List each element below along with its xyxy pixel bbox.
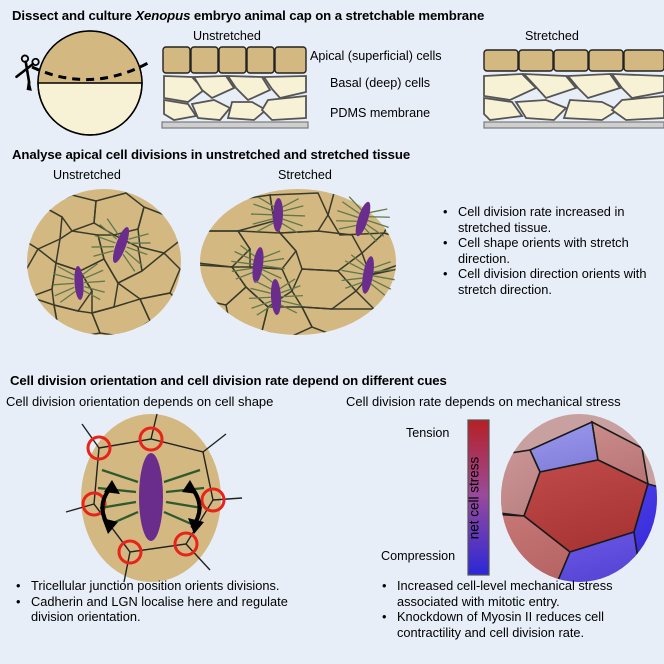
list-item: •Tricellular junction position orients d… <box>16 578 326 594</box>
panel1-heading-post: embryo animal cap on a stretchable membr… <box>190 8 484 23</box>
bullet-text: Cell division direction orients with str… <box>458 266 658 297</box>
chromosome-plate <box>139 453 163 541</box>
bullet-text: Cadherin and LGN localise here and regul… <box>31 594 326 625</box>
list-item: •Increased cell-level mechanical stress … <box>382 578 654 609</box>
panel3-right-subheading: Cell division rate depends on mechanical… <box>346 394 621 409</box>
list-item: •Cell shape orients with stretch directi… <box>443 235 658 266</box>
bullet-marker: • <box>382 609 397 640</box>
apical-cells-unstretched <box>163 47 306 73</box>
colorbar-top-label: Tension <box>406 426 449 440</box>
bullet-text: Knockdown of Myosin II reduces cell cont… <box>397 609 654 640</box>
panel3-left-bullets: •Tricellular junction position orients d… <box>16 578 326 625</box>
panel2-heading: Analyse apical cell divisions in unstret… <box>6 147 410 162</box>
panel1-heading-pre: Dissect and culture <box>12 8 135 23</box>
stress-map-chart <box>498 412 660 584</box>
panel1-heading: Dissect and culture Xenopus embryo anima… <box>6 8 484 23</box>
pdms-membrane-stretched <box>484 122 664 128</box>
bullet-marker: • <box>443 235 458 266</box>
panel-orientation-rate: Cell division orientation and cell divis… <box>0 350 664 664</box>
embryo-body <box>38 31 142 135</box>
list-item: •Knockdown of Myosin II reduces cell con… <box>382 609 654 640</box>
panel-analyse-divisions: Analyse apical cell divisions in unstret… <box>0 140 664 350</box>
bullet-text: Increased cell-level mechanical stress a… <box>397 578 654 609</box>
panel3-left-subheading: Cell division orientation depends on cel… <box>6 394 273 409</box>
cell-field-unstretched <box>22 187 187 337</box>
tissue-section-unstretched <box>162 46 308 130</box>
bullet-marker: • <box>16 594 31 625</box>
label-basal-cells: Basal (deep) cells <box>330 76 430 90</box>
panel1-stretched-label: Stretched <box>525 29 579 43</box>
panel3-right-bullets: •Increased cell-level mechanical stress … <box>382 578 654 640</box>
panel3-heading: Cell division orientation and cell divis… <box>4 373 447 388</box>
colorbar-axis-label: net cell stress <box>467 456 482 539</box>
label-pdms-membrane: PDMS membrane <box>330 106 430 120</box>
list-item: •Cell division direction orients with st… <box>443 266 658 297</box>
stress-cells <box>488 408 664 594</box>
bullet-marker: • <box>382 578 397 609</box>
bullet-text: Cell division rate increased in stretche… <box>458 204 658 235</box>
basal-cells-stretched <box>484 74 664 120</box>
panel-dissect-culture: Dissect and culture Xenopus embryo anima… <box>0 0 664 140</box>
panel2-stretched-label: Stretched <box>278 168 332 182</box>
panel1-heading-italic: Xenopus <box>135 8 190 23</box>
label-apical-cells: Apical (superficial) cells <box>310 49 442 63</box>
bullet-marker: • <box>443 266 458 297</box>
bullet-text: Cell shape orients with stretch directio… <box>458 235 658 266</box>
panel2-bullets: •Cell division rate increased in stretch… <box>443 204 658 298</box>
tissue-section-stretched <box>484 46 664 130</box>
list-item: •Cadherin and LGN localise here and regu… <box>16 594 326 625</box>
list-item: •Cell division rate increased in stretch… <box>443 204 658 235</box>
embryo-diagram <box>2 26 172 138</box>
colorbar-bottom-label: Compression <box>381 549 455 563</box>
bullet-text: Tricellular junction position orients di… <box>31 578 326 594</box>
apical-cells-stretched <box>484 50 664 71</box>
tricellular-junction-diagram <box>58 412 244 584</box>
panel1-unstretched-label: Unstretched <box>193 29 261 43</box>
basal-cells-unstretched <box>164 76 306 120</box>
bullet-marker: • <box>443 204 458 235</box>
cell-field-stretched <box>198 187 398 337</box>
pdms-membrane-unstretched <box>162 122 308 128</box>
panel2-unstretched-label: Unstretched <box>53 168 121 182</box>
bullet-marker: • <box>16 578 31 594</box>
